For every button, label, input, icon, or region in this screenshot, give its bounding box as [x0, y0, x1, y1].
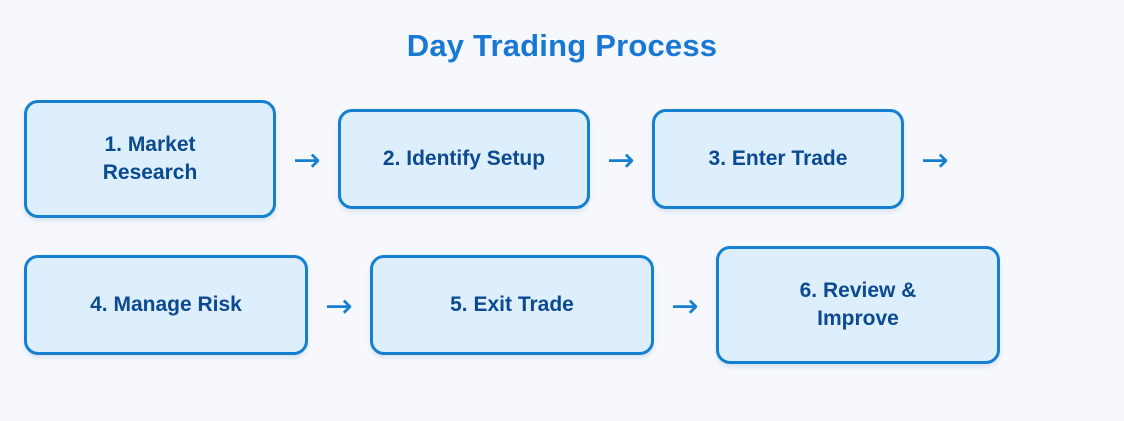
page-title: Day Trading Process [0, 28, 1124, 64]
flow-node-identify-setup[interactable]: 2. Identify Setup [338, 109, 590, 209]
flow-node-exit-trade[interactable]: 5. Exit Trade [370, 255, 654, 355]
flow-node-label: 3. Enter Trade [709, 145, 848, 173]
flow-node-label: 6. Review & Improve [800, 277, 917, 332]
flow-sequence: 1. Market Research → 2. Identify Setup →… [24, 100, 1102, 364]
flow-node-enter-trade[interactable]: 3. Enter Trade [652, 109, 904, 209]
flowchart-canvas: Day Trading Process 1. Market Research →… [0, 0, 1124, 421]
arrow-right-icon-2: → [590, 143, 652, 176]
arrow-right-icon-5: → [654, 289, 716, 322]
arrow-right-icon-4: → [308, 289, 370, 322]
flow-node-manage-risk[interactable]: 4. Manage Risk [24, 255, 308, 355]
flow-node-label: 1. Market Research [103, 131, 198, 186]
flow-node-label: 4. Manage Risk [90, 291, 242, 319]
flow-node-review-improve[interactable]: 6. Review & Improve [716, 246, 1000, 364]
flow-node-label: 5. Exit Trade [450, 291, 574, 319]
flow-node-label: 2. Identify Setup [383, 145, 545, 173]
flow-node-market-research[interactable]: 1. Market Research [24, 100, 276, 218]
arrow-right-icon-3: → [904, 143, 966, 176]
arrow-right-icon-1: → [276, 143, 338, 176]
